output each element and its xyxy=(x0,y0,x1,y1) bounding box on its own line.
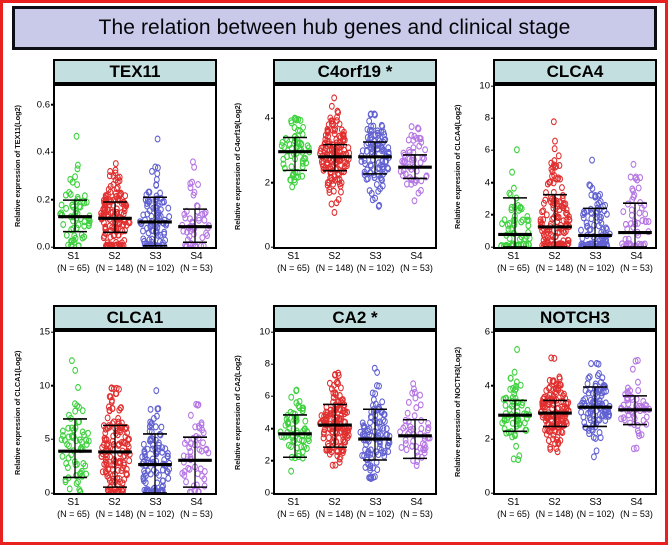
y-axis-label: Relative expression of NOCTH3(Log2) xyxy=(453,330,462,495)
data-point xyxy=(418,392,423,398)
y-axis-tick-label: 6 xyxy=(485,145,495,156)
data-point xyxy=(60,453,65,459)
panel-title: CA2 * xyxy=(332,309,377,326)
panel-title: NOTCH3 xyxy=(540,309,610,326)
error-bar xyxy=(578,387,612,426)
figure-container: The relation between hub genes and clini… xyxy=(0,0,668,545)
x-axis-group: S3(N = 102) xyxy=(135,497,176,520)
x-axis-stage-label: S1 xyxy=(493,251,534,263)
x-axis-group: S4(N = 53) xyxy=(616,497,657,520)
x-axis-group: S4(N = 53) xyxy=(176,251,217,274)
data-point xyxy=(510,169,515,175)
data-point xyxy=(507,236,512,242)
x-axis-sample-count: (N = 148) xyxy=(314,263,355,274)
data-point xyxy=(514,147,519,153)
data-point xyxy=(594,448,599,454)
x-axis-stage-label: S2 xyxy=(534,251,575,263)
data-point xyxy=(70,358,75,364)
x-axis-stage-label: S3 xyxy=(355,497,396,509)
data-point xyxy=(641,418,646,424)
x-axis-sample-count: (N = 65) xyxy=(493,509,534,520)
data-point xyxy=(517,453,522,459)
data-point xyxy=(155,136,160,142)
y-axis-tick-label: 0.6 xyxy=(37,99,55,110)
x-axis-stage-label: S2 xyxy=(314,497,355,509)
data-point xyxy=(116,415,121,421)
x-axis-group: S2(N = 148) xyxy=(94,251,135,274)
scatter-plot-svg xyxy=(275,86,435,247)
data-point xyxy=(419,418,424,424)
plot-area: 0246810 xyxy=(493,84,657,249)
x-axis-group: S2(N = 148) xyxy=(94,497,135,520)
data-point xyxy=(561,218,566,224)
data-point xyxy=(148,406,153,412)
data-point xyxy=(166,475,171,481)
data-point xyxy=(154,388,159,394)
data-point xyxy=(552,146,557,152)
data-point xyxy=(398,429,403,435)
data-point xyxy=(626,201,631,207)
x-axis-group: S2(N = 148) xyxy=(314,497,355,520)
data-point xyxy=(301,124,306,130)
data-point xyxy=(551,119,556,125)
data-point xyxy=(163,446,168,452)
x-axis-stage-label: S3 xyxy=(135,251,176,263)
x-axis-stage-label: S1 xyxy=(273,251,314,263)
panel-title-bar: CLCA4 xyxy=(493,59,657,84)
data-point xyxy=(406,399,411,405)
data-point xyxy=(326,435,331,441)
data-point xyxy=(75,182,80,188)
x-axis-group: S2(N = 148) xyxy=(534,251,575,274)
x-axis-sample-count: (N = 102) xyxy=(575,263,616,274)
x-axis-sample-count: (N = 148) xyxy=(534,509,575,520)
x-axis-sample-count: (N = 53) xyxy=(396,509,437,520)
x-axis-stage-label: S3 xyxy=(575,251,616,263)
y-axis-tick-label: 8 xyxy=(485,113,495,124)
panel-inner: CLCA1Relative expression of CLCA1(Log2)0… xyxy=(53,305,217,541)
panel-title: CLCA4 xyxy=(547,63,604,80)
x-axis: S1(N = 65)S2(N = 148)S3(N = 102)S4(N = 5… xyxy=(273,497,437,520)
y-axis-tick-label: 6 xyxy=(485,327,495,338)
data-point xyxy=(332,210,337,216)
gene-panel: C4orf19 *Relative expression of C4orf19(… xyxy=(227,53,447,299)
data-point xyxy=(64,232,69,238)
data-point xyxy=(80,408,85,414)
data-point xyxy=(628,174,633,180)
stage-point-cloud xyxy=(398,124,429,204)
y-axis-tick-label: 2 xyxy=(485,434,495,445)
data-point xyxy=(423,147,428,153)
panel-inner: NOTCH3Relative expression of NOCTH3(Log2… xyxy=(493,305,657,541)
gene-panel: NOTCH3Relative expression of NOCTH3(Log2… xyxy=(447,299,667,545)
data-point xyxy=(115,184,120,190)
x-axis-sample-count: (N = 102) xyxy=(135,263,176,274)
panel-title-bar: C4orf19 * xyxy=(273,59,437,84)
y-axis-tick-label: 10 xyxy=(479,81,495,92)
data-point xyxy=(503,402,508,408)
data-point xyxy=(512,369,517,375)
data-point xyxy=(518,382,523,388)
data-point xyxy=(587,374,592,380)
x-axis-group: S4(N = 53) xyxy=(396,251,437,274)
x-axis-group: S4(N = 53) xyxy=(176,497,217,520)
x-axis-stage-label: S3 xyxy=(575,497,616,509)
panel-title: TEX11 xyxy=(109,63,160,80)
panel-inner: TEX11Relative expression of TEX11(Log2)0… xyxy=(53,59,217,295)
y-axis-tick-label: 4 xyxy=(485,380,495,391)
data-point xyxy=(76,385,81,391)
data-point xyxy=(290,184,295,190)
x-axis-group: S1(N = 65) xyxy=(273,497,314,520)
data-point xyxy=(508,375,513,381)
y-axis-tick-label: 10 xyxy=(259,327,275,338)
x-axis-sample-count: (N = 65) xyxy=(493,263,534,274)
data-point xyxy=(630,186,635,192)
x-axis-group: S3(N = 102) xyxy=(355,497,396,520)
data-point xyxy=(61,222,66,228)
y-axis-tick-label: 15 xyxy=(39,327,55,338)
x-axis-sample-count: (N = 148) xyxy=(534,263,575,274)
figure-banner: The relation between hub genes and clini… xyxy=(12,6,657,50)
x-axis-stage-label: S2 xyxy=(94,251,135,263)
data-point xyxy=(405,410,410,416)
data-point xyxy=(375,370,380,376)
data-point xyxy=(192,164,197,170)
gene-panel: TEX11Relative expression of TEX11(Log2)0… xyxy=(7,53,227,299)
y-axis-tick-label: 8 xyxy=(265,359,275,370)
scatter-plot-svg xyxy=(495,332,655,493)
data-point xyxy=(64,206,69,212)
stage-point-cloud xyxy=(500,347,532,463)
x-axis-stage-label: S1 xyxy=(53,497,94,509)
data-point xyxy=(113,161,118,167)
panel-inner: C4orf19 *Relative expression of C4orf19(… xyxy=(273,59,437,295)
x-axis: S1(N = 65)S2(N = 148)S3(N = 102)S4(N = 5… xyxy=(273,251,437,274)
data-point xyxy=(384,426,389,432)
x-axis-stage-label: S4 xyxy=(616,251,657,263)
x-axis-sample-count: (N = 102) xyxy=(355,509,396,520)
data-point xyxy=(508,192,513,198)
y-axis-label: Relative expression of C4orf19(Log2) xyxy=(233,84,242,249)
data-point xyxy=(202,217,207,223)
x-axis-sample-count: (N = 102) xyxy=(575,509,616,520)
x-axis-group: S3(N = 102) xyxy=(575,497,616,520)
x-axis: S1(N = 65)S2(N = 148)S3(N = 102)S4(N = 5… xyxy=(53,251,217,274)
panel-title-bar: CLCA1 xyxy=(53,305,217,330)
x-axis-sample-count: (N = 148) xyxy=(314,509,355,520)
data-point xyxy=(321,435,326,441)
data-point xyxy=(329,201,334,207)
data-point xyxy=(127,458,132,464)
data-point xyxy=(329,103,334,109)
data-point xyxy=(380,399,385,405)
x-axis-group: S3(N = 102) xyxy=(355,251,396,274)
y-axis-tick-label: 4 xyxy=(485,177,495,188)
plot-area: 051015 xyxy=(53,330,217,495)
data-point xyxy=(339,189,344,195)
data-point xyxy=(560,185,565,191)
data-point xyxy=(289,164,294,170)
data-point xyxy=(419,426,424,432)
x-axis-stage-label: S2 xyxy=(314,251,355,263)
data-point xyxy=(202,483,207,489)
data-point xyxy=(303,418,308,424)
panel-inner: CA2 *Relative expression of CA2(Log2)024… xyxy=(273,305,437,541)
x-axis: S1(N = 65)S2(N = 148)S3(N = 102)S4(N = 5… xyxy=(493,497,657,520)
plot-area: 0246 xyxy=(493,330,657,495)
data-point xyxy=(552,355,557,361)
data-point xyxy=(371,403,376,409)
x-axis-stage-label: S4 xyxy=(396,497,437,509)
gene-panel: CLCA4Relative expression of CLCA4(Log2)0… xyxy=(447,53,667,299)
data-point xyxy=(141,228,146,234)
x-axis-group: S1(N = 65) xyxy=(493,251,534,274)
data-point xyxy=(515,347,520,353)
data-point xyxy=(636,388,641,394)
data-point xyxy=(167,214,172,220)
x-axis-sample-count: (N = 53) xyxy=(176,263,217,274)
y-axis-tick-label: 10 xyxy=(39,380,55,391)
x-axis-stage-label: S4 xyxy=(616,497,657,509)
x-axis-group: S1(N = 65) xyxy=(53,251,94,274)
x-axis-stage-label: S2 xyxy=(94,497,135,509)
x-axis-group: S4(N = 53) xyxy=(616,251,657,274)
data-point xyxy=(585,381,590,387)
data-point xyxy=(644,414,649,420)
y-axis-label: Relative expression of CLCA4(Log2) xyxy=(453,84,462,249)
data-point xyxy=(581,414,586,420)
y-axis-tick-label: 0.4 xyxy=(37,147,55,158)
x-axis: S1(N = 65)S2(N = 148)S3(N = 102)S4(N = 5… xyxy=(493,251,657,274)
x-axis-sample-count: (N = 102) xyxy=(135,509,176,520)
x-axis-stage-label: S1 xyxy=(53,251,94,263)
y-axis-label: Relative expression of CLCA1(Log2) xyxy=(13,330,22,495)
y-axis-tick-label: 6 xyxy=(265,391,275,402)
data-point xyxy=(553,138,558,144)
panel-title: CLCA1 xyxy=(107,309,164,326)
y-axis-tick-label: 4 xyxy=(265,423,275,434)
x-axis-group: S2(N = 148) xyxy=(314,251,355,274)
scatter-plot-svg xyxy=(495,86,655,247)
data-point xyxy=(74,133,79,139)
page-title: The relation between hub genes and clini… xyxy=(99,16,571,40)
scatter-plot-svg xyxy=(55,332,215,493)
data-point xyxy=(105,415,110,421)
x-axis-sample-count: (N = 65) xyxy=(273,509,314,520)
data-point xyxy=(166,205,171,211)
panel-title: C4orf19 * xyxy=(318,63,393,80)
y-axis-label: Relative expression of CA2(Log2) xyxy=(233,330,242,495)
x-axis-stage-label: S1 xyxy=(493,497,534,509)
data-point xyxy=(372,365,377,371)
data-point xyxy=(636,185,641,191)
panel-inner: CLCA4Relative expression of CLCA4(Log2)0… xyxy=(493,59,657,295)
x-axis-sample-count: (N = 53) xyxy=(616,509,657,520)
x-axis-stage-label: S1 xyxy=(273,497,314,509)
data-point xyxy=(412,413,417,419)
data-point xyxy=(512,185,517,191)
panel-title-bar: NOTCH3 xyxy=(493,305,657,330)
gene-panel: CLCA1Relative expression of CLCA1(Log2)0… xyxy=(7,299,227,545)
data-point xyxy=(630,366,635,372)
x-axis-sample-count: (N = 65) xyxy=(53,509,94,520)
x-axis-stage-label: S2 xyxy=(534,497,575,509)
data-point xyxy=(141,441,146,447)
plot-area: 0.00.20.40.6 xyxy=(53,84,217,249)
data-point xyxy=(643,211,648,217)
data-point xyxy=(184,479,189,485)
scatter-plot-svg xyxy=(55,86,215,247)
x-axis-sample-count: (N = 148) xyxy=(94,263,135,274)
x-axis-stage-label: S4 xyxy=(396,251,437,263)
data-point xyxy=(155,171,160,177)
data-point xyxy=(73,174,78,180)
y-axis-tick-label: 2 xyxy=(265,455,275,466)
data-point xyxy=(201,440,206,446)
y-axis-tick-label: 4 xyxy=(265,113,275,124)
x-axis-group: S1(N = 65) xyxy=(493,497,534,520)
data-point xyxy=(404,447,409,453)
data-point xyxy=(636,379,641,385)
data-point xyxy=(412,198,417,204)
y-axis-tick-label: 2 xyxy=(485,209,495,220)
data-point xyxy=(289,468,294,474)
gene-panel: CA2 *Relative expression of CA2(Log2)024… xyxy=(227,299,447,545)
y-axis-tick-label: 5 xyxy=(45,434,55,445)
data-point xyxy=(590,157,595,163)
x-axis-sample-count: (N = 53) xyxy=(616,263,657,274)
data-point xyxy=(300,131,305,137)
plot-area: 0246810 xyxy=(273,330,437,495)
plot-area: 024 xyxy=(273,84,437,249)
data-point xyxy=(153,424,158,430)
data-point xyxy=(159,424,164,430)
x-axis-group: S4(N = 53) xyxy=(396,497,437,520)
data-point xyxy=(198,466,203,472)
data-point xyxy=(414,405,419,411)
x-axis-stage-label: S3 xyxy=(135,497,176,509)
scatter-plot-svg xyxy=(275,332,435,493)
data-point xyxy=(75,162,80,168)
x-axis-stage-label: S4 xyxy=(176,251,217,263)
y-axis-tick-label: 0.2 xyxy=(37,194,55,205)
data-point xyxy=(544,212,549,218)
x-axis-sample-count: (N = 65) xyxy=(273,263,314,274)
stage-point-cloud xyxy=(140,388,172,493)
data-point xyxy=(289,394,294,400)
panel-title-bar: TEX11 xyxy=(53,59,217,84)
data-point xyxy=(187,489,192,493)
x-axis-sample-count: (N = 148) xyxy=(94,509,135,520)
x-axis-group: S3(N = 102) xyxy=(575,251,616,274)
data-point xyxy=(621,209,626,215)
data-point xyxy=(73,367,78,373)
data-point xyxy=(414,463,419,469)
x-axis-sample-count: (N = 53) xyxy=(176,509,217,520)
data-point xyxy=(556,153,561,159)
x-axis-group: S3(N = 102) xyxy=(135,251,176,274)
data-point xyxy=(67,486,72,492)
data-point xyxy=(592,454,597,460)
data-point xyxy=(111,419,116,425)
y-axis-label: Relative expression of TEX11(Log2) xyxy=(13,84,22,249)
x-axis: S1(N = 65)S2(N = 148)S3(N = 102)S4(N = 5… xyxy=(53,497,217,520)
y-axis-tick-label: 2 xyxy=(265,177,275,188)
data-point xyxy=(196,182,201,188)
x-axis-group: S1(N = 65) xyxy=(273,251,314,274)
data-point xyxy=(589,361,594,367)
data-point xyxy=(579,227,584,233)
data-point xyxy=(409,124,414,130)
x-axis-stage-label: S4 xyxy=(176,497,217,509)
x-axis-sample-count: (N = 65) xyxy=(53,263,94,274)
data-point xyxy=(406,137,411,143)
x-axis-sample-count: (N = 53) xyxy=(396,263,437,274)
x-axis-sample-count: (N = 102) xyxy=(355,263,396,274)
data-point xyxy=(188,412,193,418)
panel-grid: TEX11Relative expression of TEX11(Log2)0… xyxy=(7,53,667,545)
data-point xyxy=(332,95,337,101)
data-point xyxy=(399,445,404,451)
data-point xyxy=(374,182,379,188)
data-point xyxy=(367,118,372,124)
x-axis-stage-label: S3 xyxy=(355,251,396,263)
panel-title-bar: CA2 * xyxy=(273,305,437,330)
data-point xyxy=(631,161,636,167)
x-axis-group: S1(N = 65) xyxy=(53,497,94,520)
error-bar xyxy=(358,142,392,174)
data-point xyxy=(59,202,64,208)
data-point xyxy=(586,375,591,381)
data-point xyxy=(514,443,519,449)
data-point xyxy=(508,386,513,392)
x-axis-group: S2(N = 148) xyxy=(534,497,575,520)
data-point xyxy=(200,235,205,241)
